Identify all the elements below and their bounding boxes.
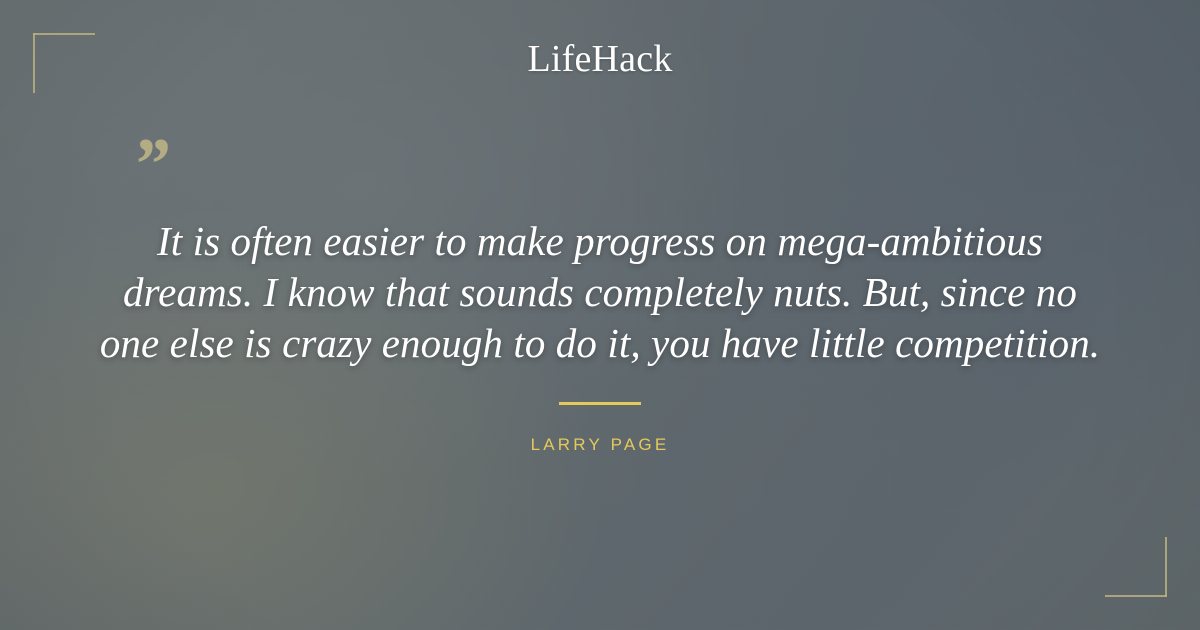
corner-bracket-bottom-right-vertical: [1165, 537, 1167, 597]
quote-line: It is often easier to make progress on m…: [60, 216, 1140, 267]
quote-text: It is often easier to make progress on m…: [60, 216, 1140, 369]
quote-card: LifeHack ” It is often easier to make pr…: [0, 0, 1200, 630]
quote-line: one else is crazy enough to do it, you h…: [60, 318, 1140, 369]
quote-author-name: LARRY PAGE: [0, 435, 1200, 455]
brand-logo: LifeHack: [0, 38, 1200, 80]
quote-line: dreams. I know that sounds completely nu…: [60, 267, 1140, 318]
quote-attribution: LARRY PAGE: [0, 402, 1200, 455]
attribution-divider: [559, 402, 641, 405]
quotation-mark-icon: ”: [132, 128, 169, 202]
corner-bracket-top-left-horizontal: [33, 33, 95, 35]
corner-bracket-bottom-right-icon: [1105, 537, 1167, 597]
corner-bracket-bottom-right-horizontal: [1105, 595, 1167, 597]
